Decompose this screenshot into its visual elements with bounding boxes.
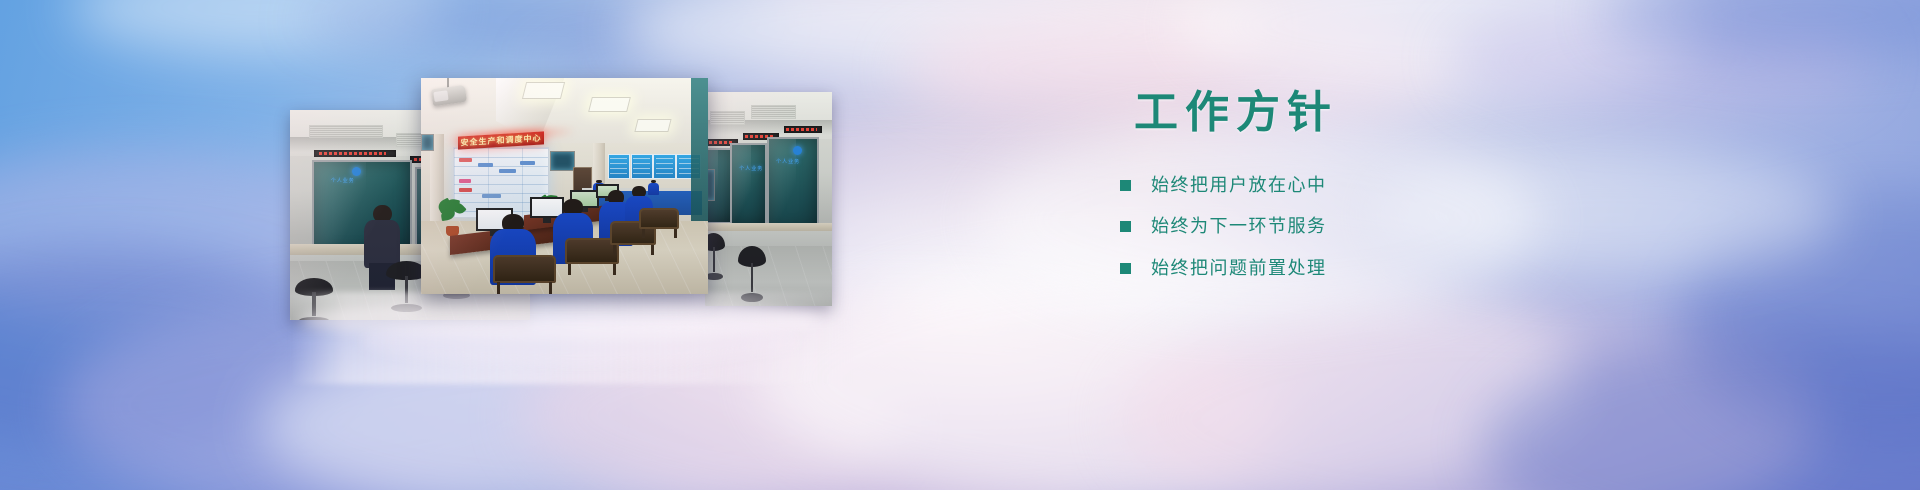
list-item: 始终把用户放在心中 [1120,175,1740,197]
list-item-label: 始终把问题前置处理 [1151,258,1327,280]
service-windows-row-photo: 个人业务 个人业务 [705,92,832,306]
text-panel: 工作方针 始终把用户放在心中 始终为下一环节服务 始终把问题前置处理 [1120,88,1740,299]
list-item-label: 始终为下一环节服务 [1151,216,1327,238]
photo-right-scene: 个人业务 个人业务 [705,92,832,306]
collage-reflection-streak [360,318,800,364]
list-item: 始终为下一环节服务 [1120,216,1740,238]
square-bullet-icon [1120,221,1131,232]
square-bullet-icon [1120,263,1131,274]
square-bullet-icon [1120,180,1131,191]
list-item-label: 始终把用户放在心中 [1151,175,1327,197]
page-title: 工作方针 [1134,88,1740,139]
hero-banner: 个人业务 个人业务 [0,0,1920,490]
photo-center-scene: 安全生产和调度中心 [421,78,708,294]
dispatch-control-room-photo: 安全生产和调度中心 [421,78,708,294]
list-item: 始终把问题前置处理 [1120,258,1740,280]
policy-bullet-list: 始终把用户放在心中 始终为下一环节服务 始终把问题前置处理 [1120,175,1740,280]
